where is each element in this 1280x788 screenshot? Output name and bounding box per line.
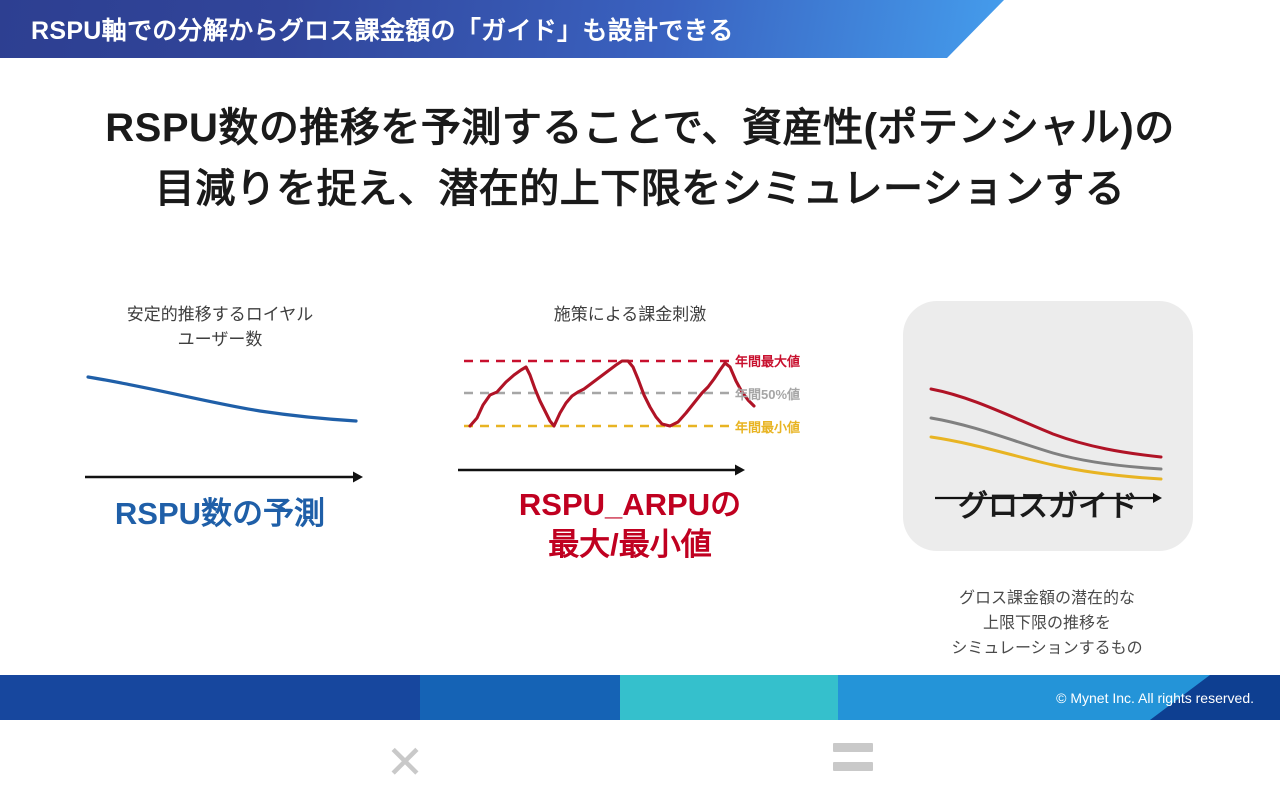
panel3-note-line-3: シミュレーションするもの bbox=[897, 637, 1197, 662]
panel2-caption: 施策による課金刺激 bbox=[440, 303, 820, 328]
panel-rspu-arpu: 施策による課金刺激 年間最大値 年間50%値 年間最小値 RSPU_ARPUの … bbox=[450, 285, 830, 575]
panel2-caption-line-1: 施策による課金刺激 bbox=[440, 303, 820, 328]
multiply-operator-icon: ✕ bbox=[383, 740, 427, 784]
panel1-caption-line-2: ユーザー数 bbox=[60, 328, 380, 353]
slide-footer: © Mynet Inc. All rights reserved. bbox=[0, 675, 1280, 720]
panel-gross-guide: グロスガイド グロス課金額の潜在的な 上限下限の推移を シミュレーションするもの bbox=[903, 301, 1193, 551]
equals-bar-top bbox=[833, 743, 873, 752]
panel1-caption: 安定的推移するロイヤル ユーザー数 bbox=[60, 303, 380, 352]
panel2-legend-median: 年間50%値 bbox=[735, 384, 800, 403]
panel2-label-line-2: 最大/最小値 bbox=[440, 525, 820, 565]
slide-header: RSPU軸での分解からグロス課金額の「ガイド」も設計できる bbox=[0, 0, 1280, 58]
panel3-note-line-1: グロス課金額の潜在的な bbox=[897, 587, 1197, 612]
panel1-axis-arrow-icon bbox=[353, 472, 363, 483]
panel-rspu-forecast: 安定的推移するロイヤル ユーザー数 RSPU数の予測 bbox=[60, 285, 380, 545]
equals-bar-bottom bbox=[833, 762, 873, 771]
panel2-label: RSPU_ARPUの 最大/最小値 bbox=[440, 485, 820, 566]
header-title: RSPU軸での分解からグロス課金額の「ガイド」も設計できる bbox=[31, 0, 734, 58]
panel3-note: グロス課金額の潜在的な 上限下限の推移を シミュレーションするもの bbox=[897, 587, 1197, 661]
panel2-label-line-1: RSPU_ARPUの bbox=[440, 485, 820, 525]
equals-operator-icon bbox=[833, 743, 877, 783]
footer-segment-teal bbox=[620, 675, 840, 720]
panel1-chart bbox=[60, 355, 380, 495]
panel2-legend-max: 年間最大値 bbox=[735, 351, 800, 370]
panel3-upper-bound-line bbox=[931, 389, 1161, 457]
panel2-axis-arrow-icon bbox=[735, 465, 745, 476]
formula-diagram: 安定的推移するロイヤル ユーザー数 RSPU数の予測 ✕ 施策による課金刺激 bbox=[0, 285, 1280, 665]
page-title-line-2: 目減りを捉え、潜在的上下限をシミュレーションする bbox=[0, 159, 1280, 220]
page-title-line-1: RSPU数の推移を予測することで、資産性(ポテンシャル)の bbox=[0, 98, 1280, 159]
panel1-trend-line bbox=[88, 377, 356, 421]
panel1-label: RSPU数の予測 bbox=[60, 488, 380, 533]
footer-copyright: © Mynet Inc. All rights reserved. bbox=[1056, 675, 1254, 720]
panel1-caption-line-1: 安定的推移するロイヤル bbox=[60, 303, 380, 328]
panel2-legend-min: 年間最小値 bbox=[735, 417, 800, 436]
panel3-label: グロスガイド bbox=[903, 481, 1193, 525]
panel3-lower-bound-line bbox=[931, 437, 1161, 479]
panel3-note-line-2: 上限下限の推移を bbox=[897, 612, 1197, 637]
page-title: RSPU数の推移を予測することで、資産性(ポテンシャル)の 目減りを捉え、潜在的… bbox=[0, 98, 1280, 220]
